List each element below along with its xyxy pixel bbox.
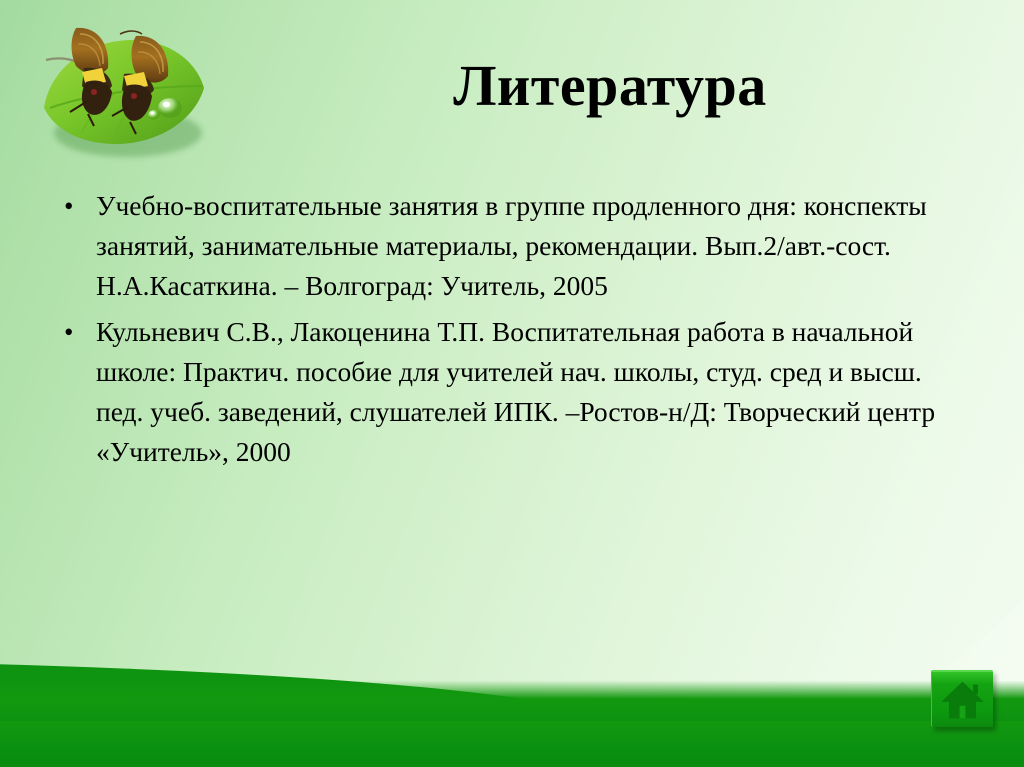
list-item: • Учебно-воспитательные занятия в группе…	[56, 186, 956, 306]
list-item-text: Учебно-воспитательные занятия в группе п…	[96, 186, 956, 306]
bullet-marker: •	[64, 312, 73, 352]
slide-title: Литература	[230, 56, 990, 117]
list-item: • Кульневич С.В., Лакоценина Т.П. Воспит…	[56, 312, 956, 472]
background-bottom-band	[0, 721, 1024, 767]
bullet-marker: •	[64, 186, 73, 226]
presentation-slide: Литература • Учебно-воспитательные занят…	[0, 0, 1024, 767]
home-button[interactable]	[931, 670, 993, 727]
butterflies-on-leaf-image	[28, 16, 214, 168]
home-icon	[932, 672, 993, 727]
reference-list: • Учебно-воспитательные занятия в группе…	[56, 186, 956, 478]
list-item-text: Кульневич С.В., Лакоценина Т.П. Воспитат…	[96, 312, 956, 472]
